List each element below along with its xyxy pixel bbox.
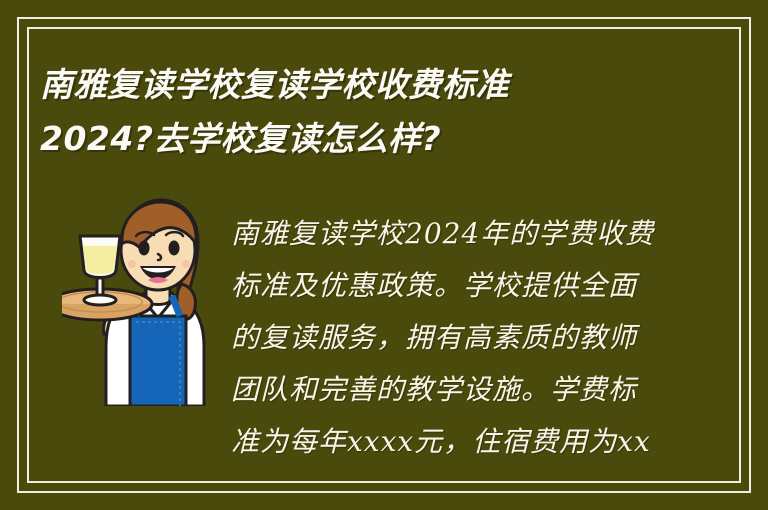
body-line-4: 团队和完善的教学设施。学费标 <box>231 364 651 416</box>
body-line-1: 南雅复读学校2024年的学费收费 <box>231 208 651 260</box>
poster-title: 南雅复读学校复读学校收费标准 2024?去学校复读怎么样? <box>40 58 730 166</box>
eye-right <box>169 241 180 256</box>
poster-canvas: 南雅复读学校复读学校收费标准 2024?去学校复读怎么样? <box>0 0 768 510</box>
waitress-illustration <box>62 196 222 406</box>
eye-left <box>139 241 150 256</box>
title-line-2: 2024?去学校复读怎么样? <box>40 112 730 166</box>
body-line-2: 标准及优惠政策。学校提供全面 <box>231 260 651 312</box>
title-line-1: 南雅复读学校复读学校收费标准 <box>40 58 730 112</box>
waitress-face <box>121 202 196 290</box>
body-line-3: 的复读服务，拥有高素质的教师 <box>231 312 651 364</box>
poster-body-text: 南雅复读学校2024年的学费收费 标准及优惠政策。学校提供全面 的复读服务，拥有… <box>231 208 651 468</box>
body-line-5: 准为每年xxxx元，住宿费用为xx <box>231 416 651 468</box>
